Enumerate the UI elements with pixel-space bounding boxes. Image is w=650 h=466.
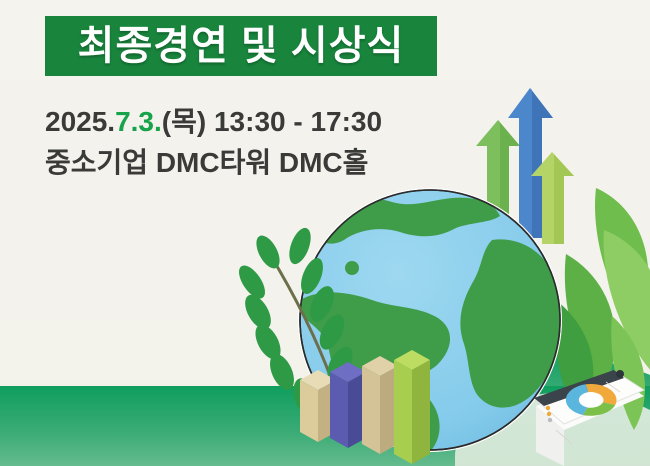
event-date-accent: 7.3. xyxy=(115,106,162,137)
page-title: 최종경연 및 시상식 xyxy=(78,26,405,66)
event-venue-line: 중소기업 DMC타워 DMC홀 xyxy=(45,145,505,181)
event-date-prefix: 2025. xyxy=(45,106,115,137)
event-datetime-line: 2025.7.3.(목) 13:30 - 17:30 xyxy=(45,104,505,139)
poster-root: 최종경연 및 시상식 2025.7.3.(목) 13:30 - 17:30 중소… xyxy=(0,0,650,466)
event-info-block: 2025.7.3.(목) 13:30 - 17:30 중소기업 DMC타워 DM… xyxy=(45,104,505,181)
title-banner: 최종경연 및 시상식 xyxy=(45,16,437,76)
event-date-suffix: (목) 13:30 - 17:30 xyxy=(162,106,382,137)
